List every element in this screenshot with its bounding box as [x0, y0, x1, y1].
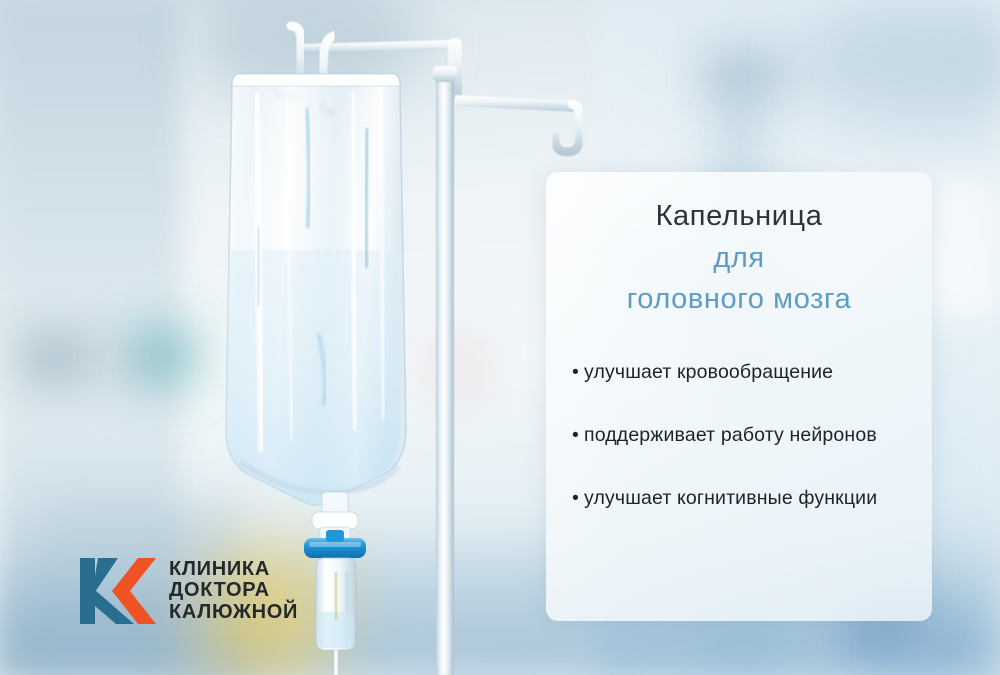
heading-line-preposition: для — [564, 240, 914, 276]
heading-line-target: головного мозга — [564, 281, 914, 317]
info-card: Капельница для головного мозга •улучшает… — [546, 172, 932, 621]
advertisement-banner: Капельница для головного мозга •улучшает… — [0, 0, 1000, 675]
card-heading: Капельница для головного мозга — [564, 198, 914, 317]
benefit-item: •улучшает когнитивные функции — [572, 485, 910, 512]
kk-monogram-icon — [78, 556, 156, 626]
benefit-text: поддерживает работу нейронов — [584, 424, 877, 446]
benefit-text: улучшает кровообращение — [584, 361, 833, 383]
bullet-icon: • — [572, 485, 579, 512]
logo-text-line-1: КЛИНИКА — [169, 559, 298, 581]
logo-text-line-2: ДОКТОРА — [169, 580, 298, 602]
benefit-text: улучшает когнитивные функции — [584, 487, 877, 509]
bullet-icon: • — [572, 359, 579, 386]
bullet-icon: • — [572, 422, 579, 449]
clinic-logo-text: КЛИНИКА ДОКТОРА КАЛЮЖНОЙ — [169, 559, 298, 624]
benefit-item: •улучшает кровообращение — [572, 359, 910, 386]
benefit-item: •поддерживает работу нейронов — [572, 422, 910, 449]
heading-line-product: Капельница — [564, 198, 914, 234]
clinic-logo: КЛИНИКА ДОКТОРА КАЛЮЖНОЙ — [78, 556, 298, 626]
benefit-list: •улучшает кровообращение •поддерживает р… — [564, 359, 914, 512]
logo-text-line-3: КАЛЮЖНОЙ — [169, 602, 298, 624]
